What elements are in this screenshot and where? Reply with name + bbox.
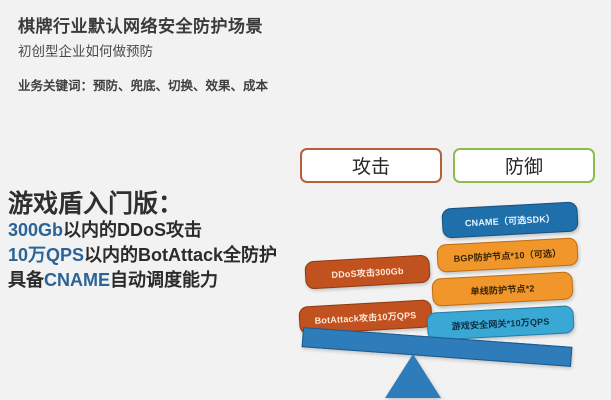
lead-cname-prefix: 具备 [8, 270, 44, 290]
attack-chip-botattack-label: BotAttack攻击10万QPS [314, 308, 416, 327]
lead-cname-term: CNAME [44, 270, 110, 290]
business-keywords: 业务关键词：预防、兜底、切换、效果、成本 [18, 75, 268, 94]
defend-chip-game-gateway: 游戏安全网关*10万QPS [426, 305, 574, 341]
lead-cname-text: 自动调度能力 [110, 270, 218, 290]
lead-text-block: 游戏盾入门版： 300Gb以内的DDoS攻击 10万QPS以内的BotAttac… [8, 190, 298, 292]
lead-ddos-capacity: 300Gb [8, 220, 63, 240]
balance-fulcrum-triangle [385, 354, 441, 398]
defend-chip-cname-label: CNAME（可选SDK） [465, 211, 556, 229]
attack-chip-ddos-label: DDoS攻击300Gb [331, 263, 404, 280]
lead-ddos-text: 以内的DDoS攻击 [63, 220, 202, 240]
attack-chip-ddos: DDoS攻击300Gb [304, 255, 430, 290]
defend-chip-single-line-nodes-label: 单线防护节点*2 [470, 281, 535, 297]
defend-chip-bgp-nodes-label: BGP防护节点*10（可选） [453, 246, 561, 265]
lead-qps-capacity: 10万QPS [8, 245, 84, 265]
category-header-defend: 防御 [453, 148, 595, 183]
category-defend-label: 防御 [505, 152, 543, 179]
lead-line-cname: 具备CNAME自动调度能力 [8, 268, 298, 293]
category-header-attack: 攻击 [300, 148, 442, 183]
defend-chip-single-line-nodes: 单线防护节点*2 [431, 271, 573, 306]
defend-chip-bgp-nodes: BGP防护节点*10（可选） [436, 237, 578, 272]
category-attack-label: 攻击 [352, 152, 390, 179]
page-subtitle: 初创型企业如何做预防 [18, 40, 153, 60]
lead-line-ddos: 300Gb以内的DDoS攻击 [8, 218, 298, 243]
lead-heading: 游戏盾入门版： [8, 190, 298, 218]
slide-canvas: 棋牌行业默认网络安全防护场景 初创型企业如何做预防 业务关键词：预防、兜底、切换… [0, 0, 611, 400]
lead-line-bot: 10万QPS以内的BotAttack全防护 [8, 243, 298, 268]
defend-chip-game-gateway-label: 游戏安全网关*10万QPS [451, 314, 550, 332]
defend-chip-cname: CNAME（可选SDK） [441, 201, 578, 238]
lead-bot-text: 以内的BotAttack全防护 [84, 245, 277, 265]
page-title: 棋牌行业默认网络安全防护场景 [18, 12, 263, 37]
